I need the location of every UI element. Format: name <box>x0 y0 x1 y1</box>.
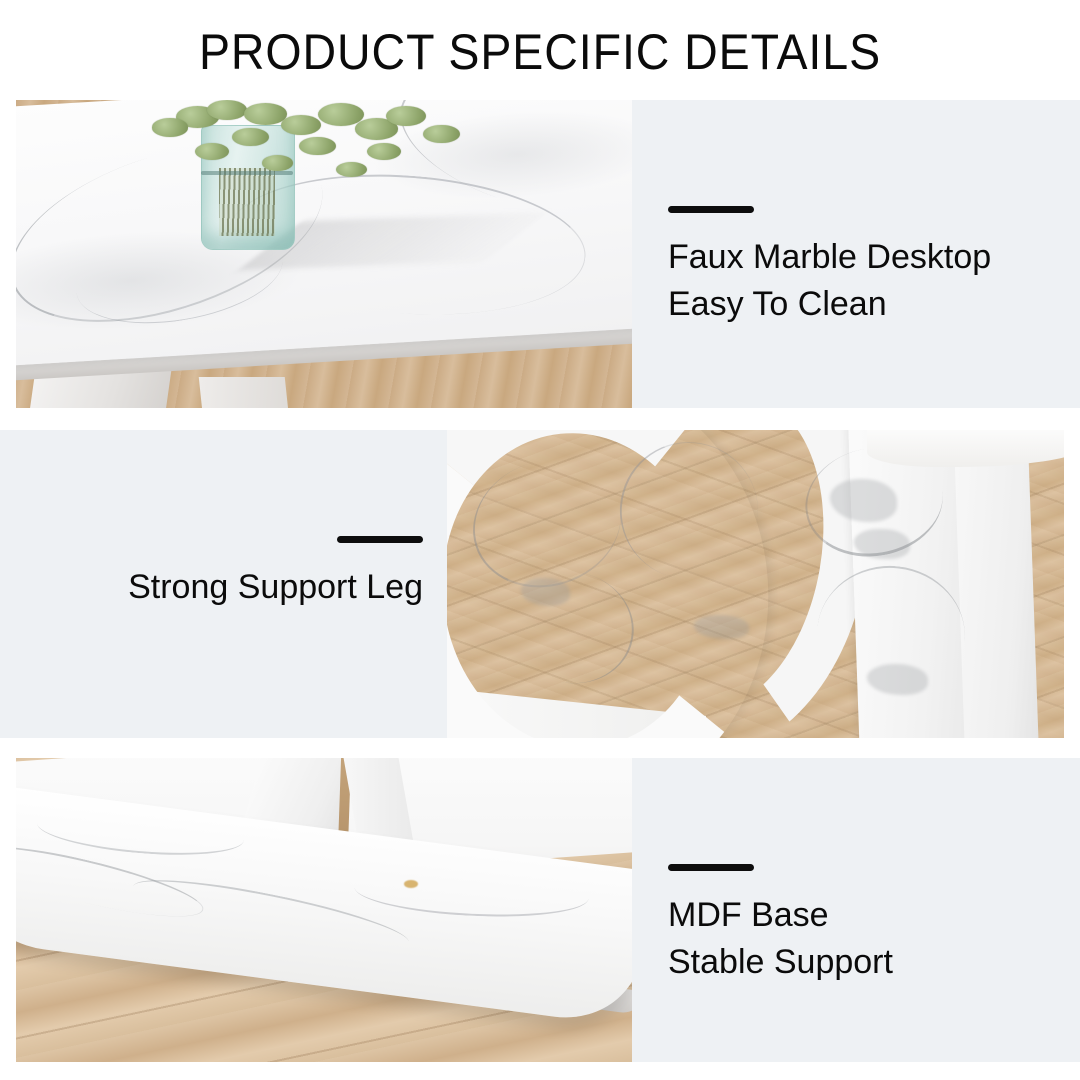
caption-rule <box>668 864 754 871</box>
caption-mdf-base: MDF Base Stable Support <box>632 758 1080 1062</box>
marble-vein <box>353 864 591 921</box>
marble-blotch <box>521 578 570 606</box>
eucalyptus-leaf <box>262 155 293 170</box>
specular-highlight <box>404 880 418 888</box>
eucalyptus-leaf <box>386 106 426 126</box>
eucalyptus-leaf <box>195 143 229 160</box>
caption-rule <box>668 206 754 213</box>
caption-strong-support-leg: Strong Support Leg <box>0 430 447 738</box>
caption-faux-marble-desktop: Faux Marble Desktop Easy To Clean <box>632 100 1080 408</box>
table-pedestal-secondary <box>199 377 290 408</box>
caption-text: MDF Base Stable Support <box>668 892 893 986</box>
product-details-infographic: PRODUCT SPECIFIC DETAILS <box>0 0 1080 1080</box>
eucalyptus-leaf <box>244 103 287 125</box>
eucalyptus-leaf <box>232 128 269 146</box>
tabletop-underside <box>867 430 1064 467</box>
eucalyptus-leaf <box>336 162 367 177</box>
detail-section-strong-support-leg: Strong Support Leg <box>0 430 1064 738</box>
vase-rim <box>201 171 293 175</box>
support-leg-blade <box>953 430 1040 738</box>
eucalyptus-leaf <box>367 143 401 160</box>
caption-text: Faux Marble Desktop Easy To Clean <box>668 234 991 328</box>
product-photo-mdf-base <box>16 758 632 1062</box>
eucalyptus-leaf <box>207 100 247 120</box>
detail-section-mdf-base: MDF Base Stable Support <box>16 758 1080 1062</box>
caption-text: Strong Support Leg <box>128 564 423 611</box>
eucalyptus-leaf <box>152 118 189 136</box>
page-title: PRODUCT SPECIFIC DETAILS <box>38 24 1042 80</box>
marble-vein <box>16 833 205 931</box>
product-photo-faux-marble-desktop <box>16 100 632 408</box>
marble-vein <box>133 866 411 961</box>
product-photo-strong-support-leg <box>447 430 1064 738</box>
eucalyptus-leaf <box>423 125 460 143</box>
detail-section-faux-marble-desktop: Faux Marble Desktop Easy To Clean <box>16 100 1080 408</box>
plant-stems <box>219 168 274 236</box>
caption-rule <box>337 536 423 543</box>
